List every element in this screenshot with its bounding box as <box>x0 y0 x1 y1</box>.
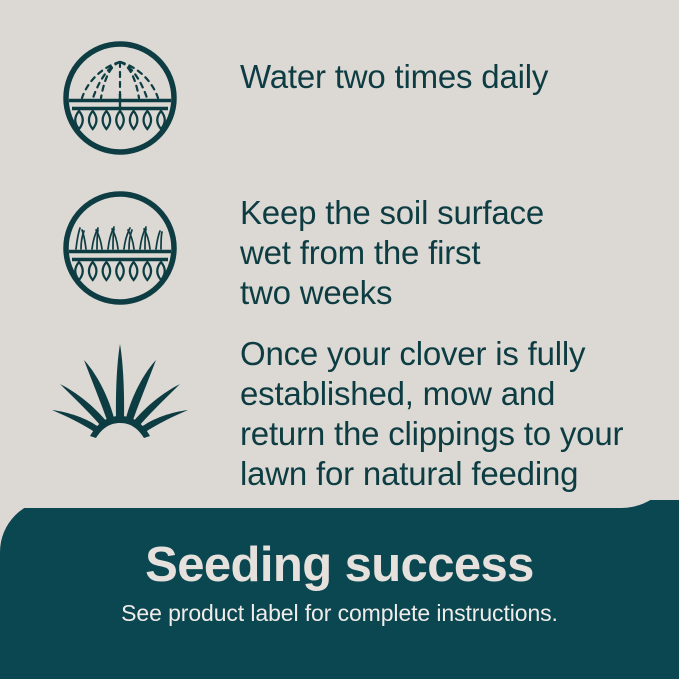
infographic-poster: Water two times daily <box>0 0 679 679</box>
icon-cell <box>0 184 240 308</box>
instruction-text: Keep the soil surface wet from the first… <box>240 184 562 313</box>
instruction-line: established, mow and <box>240 374 623 414</box>
soil-surface-grass-circle-icon <box>60 188 180 308</box>
instruction-text: Water two times daily <box>240 34 566 97</box>
instruction-row: Once your clover is fully established, m… <box>0 334 641 494</box>
clover-grass-tuft-icon <box>50 340 190 440</box>
banner-subtitle: See product label for complete instructi… <box>0 599 679 627</box>
icon-cell <box>0 334 240 440</box>
banner-title: Seeding success <box>0 537 679 593</box>
sprinkler-watering-circle-icon <box>60 38 180 158</box>
instruction-line: Once your clover is fully <box>240 334 623 374</box>
icon-cell <box>0 34 240 158</box>
instruction-text: Once your clover is fully established, m… <box>240 334 641 494</box>
instruction-line: Water two times daily <box>240 57 548 97</box>
instruction-row: Keep the soil surface wet from the first… <box>0 184 562 313</box>
instruction-line: wet from the first <box>240 233 544 273</box>
instruction-line: lawn for natural feeding <box>240 454 623 494</box>
instruction-line: return the clippings to your <box>240 414 623 454</box>
instruction-row: Water two times daily <box>0 34 566 158</box>
instruction-line: Keep the soil surface <box>240 193 544 233</box>
instructions-panel: Water two times daily <box>0 0 679 508</box>
banner-text-block: Seeding success See product label for co… <box>0 500 679 627</box>
instruction-line: two weeks <box>240 273 544 313</box>
